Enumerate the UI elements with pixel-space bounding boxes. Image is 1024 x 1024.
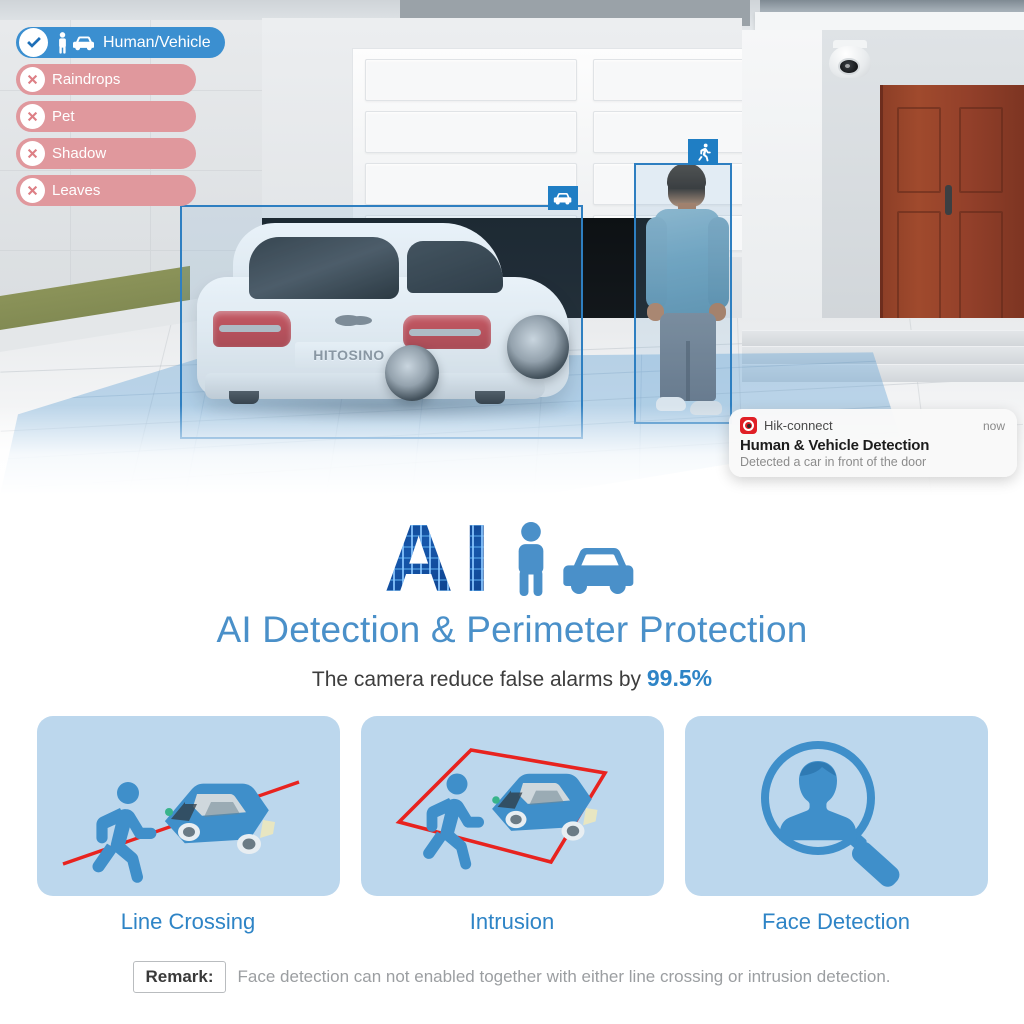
- chip-icons-human-vehicle: [55, 32, 96, 54]
- cross-icon: [20, 67, 45, 92]
- chip-label: Leaves: [52, 182, 100, 199]
- entry-step-1: [742, 330, 1024, 346]
- ai-letter-i: I: [463, 515, 490, 603]
- detection-badge-vehicle: [548, 186, 578, 210]
- ai-letters: A I: [384, 515, 490, 603]
- chip-shadow[interactable]: Shadow: [16, 138, 196, 169]
- chip-label: Shadow: [52, 145, 106, 162]
- notification-timestamp: now: [983, 419, 1005, 433]
- line-crossing-illustration: [37, 716, 340, 896]
- chip-label: Pet: [52, 108, 75, 125]
- ai-letter-a: A: [384, 515, 453, 603]
- door-handle: [945, 185, 952, 215]
- feature-card-label: Line Crossing: [37, 909, 340, 935]
- notification-title: Human & Vehicle Detection: [740, 437, 1005, 454]
- feature-card-label: Intrusion: [361, 909, 664, 935]
- section-headline: AI Detection & Perimeter Protection: [0, 609, 1024, 651]
- notification-header: Hik-connect now: [740, 417, 1005, 434]
- feature-card-label: Face Detection: [685, 909, 988, 935]
- face-silhouette-icon: [779, 761, 857, 840]
- detection-filter-chip-list: Human/Vehicle Raindrops Pet Shadow Leave: [16, 27, 225, 206]
- chip-raindrops[interactable]: Raindrops: [16, 64, 196, 95]
- cross-icon: [20, 178, 45, 203]
- notification-app-name: Hik-connect: [764, 418, 983, 433]
- remark-text: Face detection can not enabled together …: [238, 961, 891, 993]
- car-icon: [553, 191, 573, 205]
- hik-connect-icon: [740, 417, 757, 434]
- detection-badge-human: [688, 139, 718, 165]
- detection-box-vehicle: [180, 205, 583, 439]
- remark-label: Remark:: [133, 961, 225, 993]
- cross-icon: [20, 141, 45, 166]
- check-icon: [19, 28, 48, 57]
- face-detection-illustration: [685, 716, 988, 896]
- notification-subtitle: Detected a car in front of the door: [740, 455, 1005, 469]
- feature-card-line-crossing[interactable]: Line Crossing: [37, 716, 340, 935]
- ai-glyph-group: [508, 521, 640, 597]
- cross-icon: [20, 104, 45, 129]
- person-icon: [508, 521, 554, 597]
- remark-row: Remark: Face detection can not enabled t…: [0, 961, 1024, 993]
- intrusion-illustration: [361, 716, 664, 896]
- car-icon: [72, 34, 96, 51]
- subline-value: 99.5%: [647, 665, 712, 691]
- car-illustration: [164, 784, 274, 854]
- ai-brand-logo: A I: [0, 495, 1024, 603]
- subline-prefix: The camera reduce false alarms by: [312, 668, 647, 691]
- chip-leaves[interactable]: Leaves: [16, 175, 196, 206]
- running-person-icon: [693, 142, 713, 162]
- running-person-icon: [92, 782, 156, 883]
- person-icon: [55, 32, 70, 54]
- feature-card-face-detection[interactable]: Face Detection: [685, 716, 988, 935]
- chip-label: Raindrops: [52, 71, 120, 88]
- car-illustration: [492, 774, 598, 841]
- hero-scene-photo: HITOSINO: [0, 0, 1024, 495]
- camera-lens-icon: [838, 58, 860, 75]
- chip-label: Human/Vehicle: [103, 34, 211, 52]
- feature-card-list: Line Crossing: [0, 716, 1024, 935]
- car-icon: [560, 539, 640, 597]
- chip-pet[interactable]: Pet: [16, 101, 196, 132]
- feature-section: A I AI Detection & Perimeter Protection …: [0, 495, 1024, 1024]
- notification-toast[interactable]: Hik-connect now Human & Vehicle Detectio…: [729, 409, 1017, 477]
- section-subline: The camera reduce false alarms by 99.5%: [0, 665, 1024, 692]
- detection-box-human: [634, 163, 732, 424]
- chip-human-vehicle[interactable]: Human/Vehicle: [16, 27, 225, 58]
- feature-card-intrusion[interactable]: Intrusion: [361, 716, 664, 935]
